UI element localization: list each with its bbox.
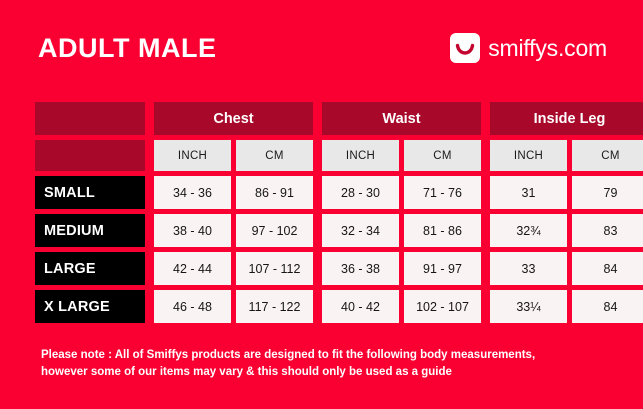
column-gap xyxy=(313,290,322,323)
table-row: SMALL 34 - 36 86 - 91 28 - 30 71 - 76 31… xyxy=(35,176,609,209)
column-gap xyxy=(145,102,154,135)
cell-large-chest-cm: 107 - 112 xyxy=(236,252,313,285)
table-corner-cell-lower xyxy=(35,140,145,171)
cell-medium-chest-inch: 38 - 40 xyxy=(154,214,231,247)
disclaimer-line-1: Please note : All of Smiffys products ar… xyxy=(41,347,601,364)
column-gap xyxy=(313,102,322,135)
disclaimer-line-2: however some of our items may vary & thi… xyxy=(41,364,601,381)
column-gap xyxy=(313,214,322,247)
cell-large-chest-inch: 42 - 44 xyxy=(154,252,231,285)
cell-medium-waist-inch: 32 - 34 xyxy=(322,214,399,247)
size-chart-sheet: ADULT MALE smiffys.com Chest Waist Insid… xyxy=(0,0,643,409)
column-gap xyxy=(481,214,490,247)
column-gap xyxy=(313,140,322,171)
table-row: MEDIUM 38 - 40 97 - 102 32 - 34 81 - 86 … xyxy=(35,214,609,247)
column-gap xyxy=(313,252,322,285)
size-table: Chest Waist Inside Leg INCH CM INCH CM I… xyxy=(35,102,609,323)
cell-medium-chest-cm: 97 - 102 xyxy=(236,214,313,247)
table-unit-header-row: INCH CM INCH CM INCH CM xyxy=(35,140,609,171)
row-label-x-large: X LARGE xyxy=(35,290,145,323)
column-gap xyxy=(145,290,154,323)
cell-x-large-waist-cm: 102 - 107 xyxy=(404,290,481,323)
cell-medium-inside-leg-inch: 32¾ xyxy=(490,214,567,247)
column-gap xyxy=(145,214,154,247)
unit-header-chest-inch: INCH xyxy=(154,140,231,171)
cell-x-large-inside-leg-cm: 84 xyxy=(572,290,643,323)
cell-small-chest-inch: 34 - 36 xyxy=(154,176,231,209)
smile-logo-icon xyxy=(450,33,480,63)
unit-header-waist-inch: INCH xyxy=(322,140,399,171)
column-gap xyxy=(481,176,490,209)
table-row: X LARGE 46 - 48 117 - 122 40 - 42 102 - … xyxy=(35,290,609,323)
column-gap xyxy=(481,102,490,135)
column-gap xyxy=(481,252,490,285)
unit-header-waist-cm: CM xyxy=(404,140,481,171)
cell-small-chest-cm: 86 - 91 xyxy=(236,176,313,209)
cell-small-waist-cm: 71 - 76 xyxy=(404,176,481,209)
table-group-header-row: Chest Waist Inside Leg xyxy=(35,102,609,135)
brand-name: smiffys.com xyxy=(488,37,607,60)
row-label-large: LARGE xyxy=(35,252,145,285)
row-label-small: SMALL xyxy=(35,176,145,209)
cell-large-waist-cm: 91 - 97 xyxy=(404,252,481,285)
column-gap xyxy=(313,176,322,209)
cell-medium-waist-cm: 81 - 86 xyxy=(404,214,481,247)
cell-x-large-chest-cm: 117 - 122 xyxy=(236,290,313,323)
brand-logo: smiffys.com xyxy=(450,33,607,63)
cell-small-waist-inch: 28 - 30 xyxy=(322,176,399,209)
cell-x-large-chest-inch: 46 - 48 xyxy=(154,290,231,323)
group-header-waist: Waist xyxy=(322,102,481,135)
cell-x-large-waist-inch: 40 - 42 xyxy=(322,290,399,323)
cell-large-waist-inch: 36 - 38 xyxy=(322,252,399,285)
column-gap xyxy=(145,252,154,285)
chart-header: ADULT MALE smiffys.com xyxy=(0,0,643,96)
cell-x-large-inside-leg-inch: 33¼ xyxy=(490,290,567,323)
unit-header-inside-leg-inch: INCH xyxy=(490,140,567,171)
group-header-inside-leg: Inside Leg xyxy=(490,102,643,135)
unit-header-inside-leg-cm: CM xyxy=(572,140,643,171)
disclaimer-note: Please note : All of Smiffys products ar… xyxy=(41,347,601,380)
cell-medium-inside-leg-cm: 83 xyxy=(572,214,643,247)
column-gap xyxy=(145,176,154,209)
table-corner-cell xyxy=(35,102,145,135)
row-label-medium: MEDIUM xyxy=(35,214,145,247)
page-title: ADULT MALE xyxy=(38,35,216,62)
cell-large-inside-leg-inch: 33 xyxy=(490,252,567,285)
table-row: LARGE 42 - 44 107 - 112 36 - 38 91 - 97 … xyxy=(35,252,609,285)
column-gap xyxy=(481,290,490,323)
cell-small-inside-leg-inch: 31 xyxy=(490,176,567,209)
column-gap xyxy=(481,140,490,171)
column-gap xyxy=(145,140,154,171)
unit-header-chest-cm: CM xyxy=(236,140,313,171)
group-header-chest: Chest xyxy=(154,102,313,135)
cell-large-inside-leg-cm: 84 xyxy=(572,252,643,285)
cell-small-inside-leg-cm: 79 xyxy=(572,176,643,209)
